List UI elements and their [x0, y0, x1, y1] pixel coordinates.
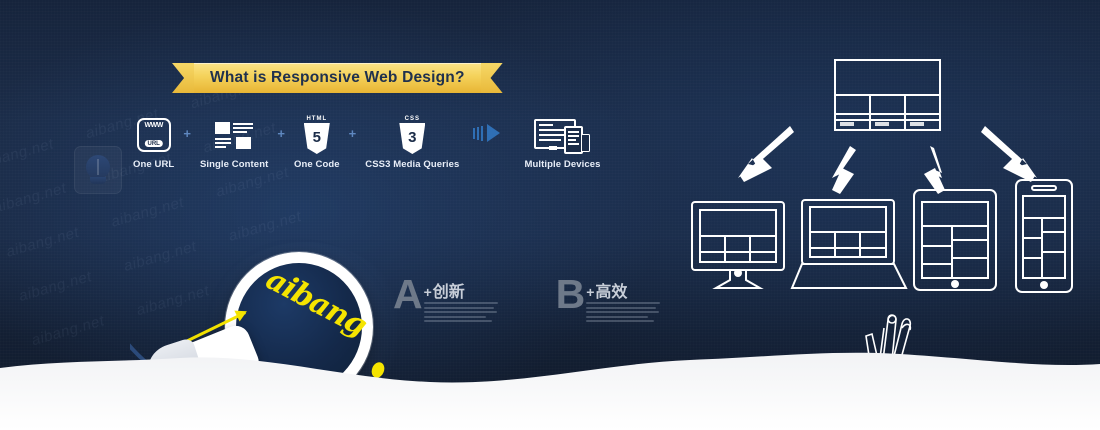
wall-socket — [74, 146, 122, 194]
highlight-a: A +创新 — [393, 276, 498, 325]
device-tablet — [914, 190, 996, 290]
feature-one-code: HTML 5 One Code — [294, 118, 340, 170]
css3-tag: CSS — [405, 116, 420, 122]
highlight-letter: A — [393, 276, 422, 314]
css3-shield-icon: CSS 3 — [399, 118, 425, 152]
ribbon-body: What is Responsive Web Design? — [194, 63, 481, 93]
arrow-to-tablet — [924, 146, 945, 194]
feature-css3-media-queries: CSS 3 CSS3 Media Queries — [365, 118, 459, 170]
html5-digit: 5 — [313, 129, 321, 146]
single-content-icon — [215, 118, 253, 152]
responsive-diagram — [680, 40, 1100, 310]
arrow-to-laptop — [832, 146, 856, 194]
white-wave — [0, 320, 1100, 430]
highlight-title: +创新 — [424, 284, 465, 301]
layout-wireframe — [835, 60, 940, 130]
hero-banner: aibang.netaibang.netaibang.net aibang.ne… — [0, 0, 1100, 430]
highlight-letter: B — [556, 276, 585, 314]
html5-shield-icon: HTML 5 — [304, 118, 330, 152]
plus-separator: + — [277, 126, 285, 141]
feature-single-content: Single Content — [200, 118, 268, 170]
highlight-b: B +高效 — [556, 276, 661, 325]
ribbon-left-tail — [172, 63, 194, 93]
right-arrow-icon — [473, 124, 500, 142]
plus-separator: + — [183, 126, 191, 141]
css3-digit: 3 — [408, 129, 416, 146]
device-smartphone — [1016, 180, 1072, 292]
feature-multiple-devices: Multiple Devices — [524, 118, 600, 170]
page-title: What is Responsive Web Design? — [210, 69, 465, 87]
device-laptop — [792, 200, 906, 288]
url-box-icon: WWW URL — [137, 118, 171, 152]
headline-ribbon: What is Responsive Web Design? — [172, 63, 503, 93]
feature-label: One URL — [133, 159, 174, 170]
multiple-devices-icon — [534, 118, 590, 152]
placeholder-lines — [586, 302, 660, 322]
highlight-title-text: 高效 — [595, 284, 627, 301]
feature-label: CSS3 Media Queries — [365, 159, 459, 170]
url-text: URL — [145, 140, 163, 147]
www-text: WWW — [139, 122, 169, 129]
placeholder-lines — [424, 302, 498, 322]
feature-label: Single Content — [200, 159, 268, 170]
feature-label: Multiple Devices — [524, 159, 600, 170]
highlight-title-text: 创新 — [433, 284, 465, 301]
plug-icon — [86, 155, 110, 179]
ribbon-right-tail — [481, 63, 503, 93]
plus-sign: + — [586, 284, 594, 300]
html5-tag: HTML — [306, 116, 327, 122]
arrow-to-phone — [981, 126, 1037, 182]
plus-sign: + — [424, 284, 432, 300]
arrow-to-desktop — [738, 126, 794, 182]
feature-label: One Code — [294, 159, 340, 170]
feature-icon-row: WWW URL One URL + Single C — [133, 118, 600, 170]
feature-one-url: WWW URL One URL — [133, 118, 174, 170]
plus-separator: + — [349, 126, 357, 141]
highlight-title: +高效 — [586, 284, 627, 301]
plug-prong — [90, 177, 106, 184]
highlight-group: A +创新 B +高效 — [393, 276, 660, 325]
